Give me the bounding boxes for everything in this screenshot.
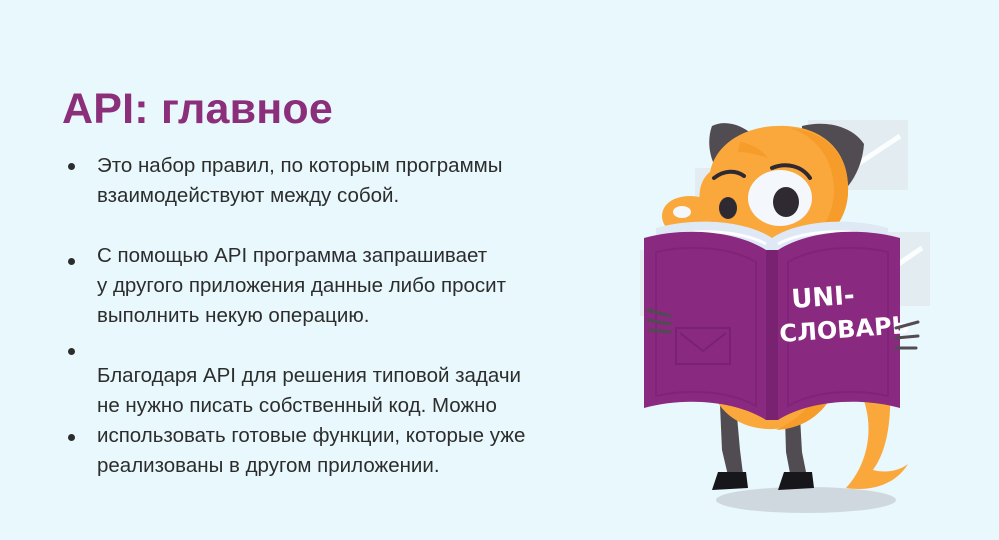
bullet-text-3: Благодаря API для решения типовой задачи… xyxy=(97,361,657,481)
fox-eye-left xyxy=(719,197,737,219)
fox-reading-book-illustration: UNI- СЛОВАРЬ xyxy=(640,120,999,520)
book-title-line-1: UNI- xyxy=(790,281,855,315)
bullet-marker-2 xyxy=(68,258,75,265)
book-spine xyxy=(766,250,778,420)
bullet-list: Это набор правил, по которым программы в… xyxy=(0,0,660,540)
fox-nose-highlight xyxy=(673,206,691,218)
bullet-text-2: С помощью API программа запрашивает у др… xyxy=(97,241,657,331)
bullet-text-1: Это набор правил, по которым программы в… xyxy=(97,151,657,211)
ground-shadow xyxy=(716,487,896,513)
fox-foot-left xyxy=(712,472,748,490)
bullet-marker-4 xyxy=(68,434,75,441)
fox-eye-right xyxy=(773,187,799,217)
bullet-marker-3 xyxy=(68,348,75,355)
book-group: UNI- СЛОВАРЬ xyxy=(644,222,918,420)
slide-canvas: API: главное Это набор правил, по которы… xyxy=(0,0,999,540)
bullet-marker-1 xyxy=(68,163,75,170)
fox-foot-right xyxy=(778,472,814,490)
